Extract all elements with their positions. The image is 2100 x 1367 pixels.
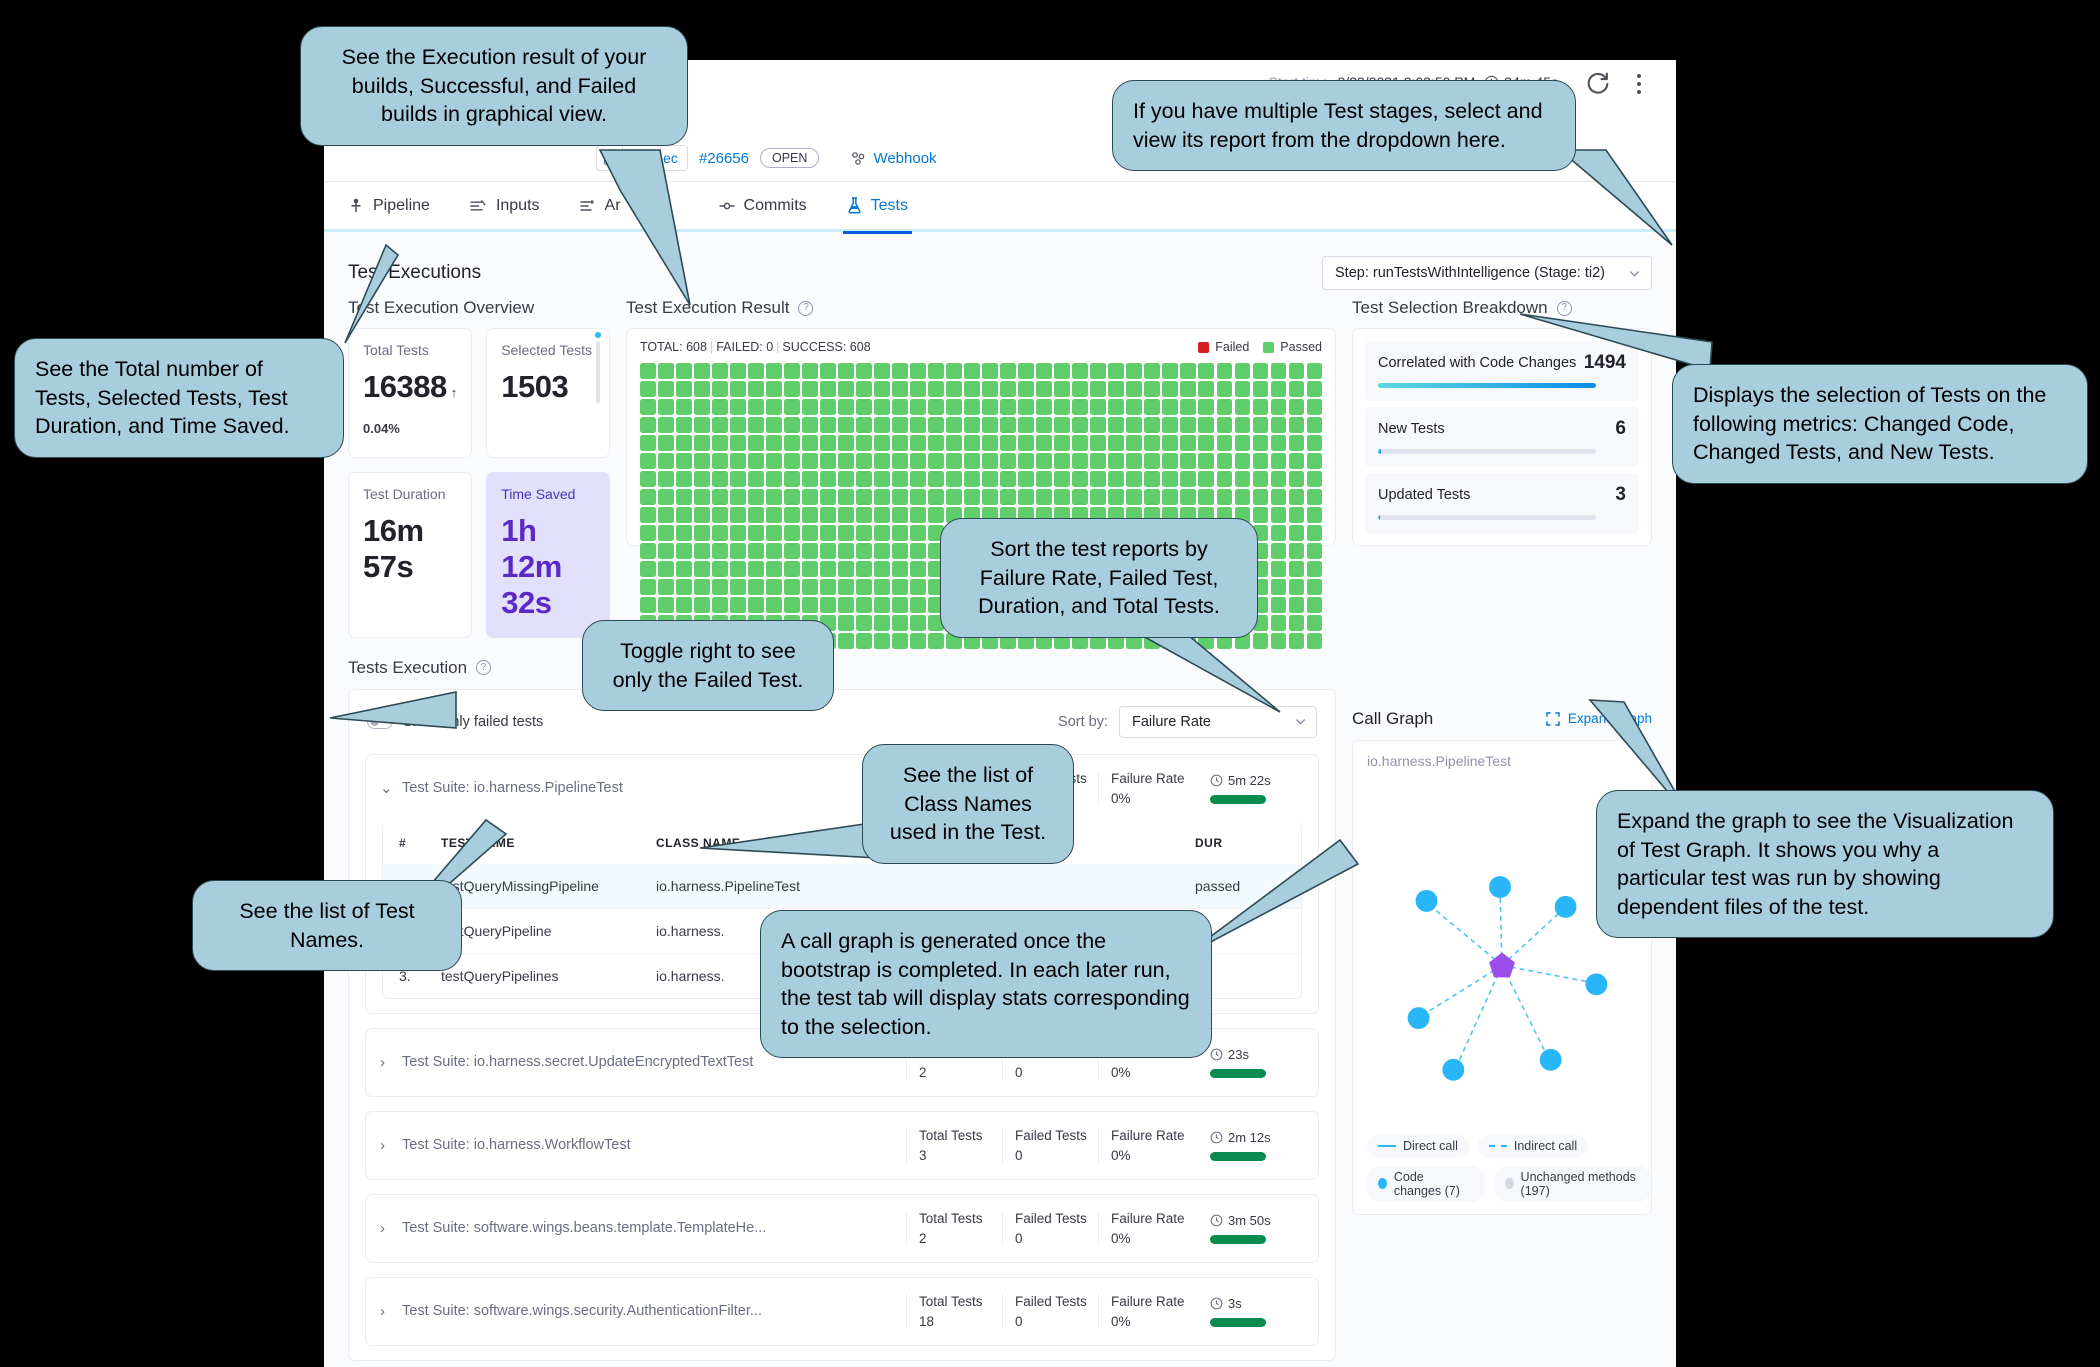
result-tile[interactable] [1271,417,1287,433]
result-tile[interactable] [856,579,872,595]
result-tile[interactable] [1108,453,1124,469]
result-tile[interactable] [964,399,980,415]
result-tile[interactable] [910,417,926,433]
result-tile[interactable] [1126,471,1142,487]
result-tile[interactable] [730,579,746,595]
result-tile[interactable] [910,363,926,379]
result-tile[interactable] [1307,453,1323,469]
result-tile[interactable] [856,507,872,523]
result-tile[interactable] [766,471,782,487]
result-tile[interactable] [928,363,944,379]
result-tile[interactable] [766,579,782,595]
result-tile[interactable] [1307,543,1323,559]
result-tile[interactable] [1289,579,1305,595]
result-tile[interactable] [676,507,692,523]
result-tile[interactable] [712,435,728,451]
result-tile[interactable] [658,363,674,379]
result-tile[interactable] [856,381,872,397]
result-tile[interactable] [694,543,710,559]
result-tile[interactable] [1018,381,1034,397]
result-tile[interactable] [856,471,872,487]
result-tile[interactable] [694,525,710,541]
result-tile[interactable] [982,399,998,415]
result-tile[interactable] [658,507,674,523]
result-tile[interactable] [910,543,926,559]
result-tile[interactable] [676,471,692,487]
result-tile[interactable] [820,381,836,397]
result-tile[interactable] [1126,435,1142,451]
result-tile[interactable] [658,489,674,505]
result-tile[interactable] [1162,417,1178,433]
result-tile[interactable] [730,489,746,505]
result-tile[interactable] [874,399,890,415]
result-tile[interactable] [838,633,854,649]
result-tile[interactable] [892,435,908,451]
chevron-right-icon[interactable]: › [380,1303,402,1320]
result-tile[interactable] [1090,417,1106,433]
result-tile[interactable] [1054,417,1070,433]
result-tile[interactable] [766,435,782,451]
result-tile[interactable] [1126,417,1142,433]
result-tile[interactable] [784,489,800,505]
result-tile[interactable] [640,399,656,415]
result-tile[interactable] [712,453,728,469]
result-tile[interactable] [1108,435,1124,451]
result-tile[interactable] [1307,633,1323,649]
result-tile[interactable] [1144,489,1160,505]
result-tile[interactable] [964,417,980,433]
result-tile[interactable] [820,597,836,613]
result-tile[interactable] [946,435,962,451]
result-tile[interactable] [1072,435,1088,451]
result-tile[interactable] [982,417,998,433]
result-tile[interactable] [856,417,872,433]
result-tile[interactable] [1036,417,1052,433]
result-tile[interactable] [784,471,800,487]
result-tile[interactable] [712,363,728,379]
result-tile[interactable] [802,543,818,559]
result-tile[interactable] [892,453,908,469]
result-tile[interactable] [1271,363,1287,379]
result-tile[interactable] [964,363,980,379]
result-tile[interactable] [1271,579,1287,595]
result-tile[interactable] [1108,417,1124,433]
result-tile[interactable] [802,489,818,505]
result-tile[interactable] [676,381,692,397]
result-tile[interactable] [766,489,782,505]
result-tile[interactable] [640,363,656,379]
result-tile[interactable] [676,435,692,451]
result-tile[interactable] [1307,381,1323,397]
result-tile[interactable] [1090,489,1106,505]
result-tile[interactable] [1090,471,1106,487]
result-tile[interactable] [1090,363,1106,379]
result-tile[interactable] [658,453,674,469]
result-tile[interactable] [1162,399,1178,415]
result-tile[interactable] [784,507,800,523]
result-tile[interactable] [892,381,908,397]
result-tile[interactable] [658,561,674,577]
result-tile[interactable] [712,579,728,595]
result-tile[interactable] [730,453,746,469]
result-tile[interactable] [1162,453,1178,469]
result-tile[interactable] [640,543,656,559]
result-tile[interactable] [748,417,764,433]
result-tile[interactable] [874,435,890,451]
result-tile[interactable] [748,543,764,559]
result-tile[interactable] [730,363,746,379]
result-tile[interactable] [694,381,710,397]
result-tile[interactable] [1271,453,1287,469]
result-tile[interactable] [1126,399,1142,415]
result-tile[interactable] [1054,381,1070,397]
result-tile[interactable] [910,633,926,649]
result-tile[interactable] [640,525,656,541]
result-tile[interactable] [730,561,746,577]
result-tile[interactable] [1162,471,1178,487]
tab-inputs[interactable]: Inputs [470,181,540,231]
result-tile[interactable] [712,489,728,505]
result-tile[interactable] [748,453,764,469]
result-tile[interactable] [910,597,926,613]
result-tile[interactable] [910,525,926,541]
result-tile[interactable] [1271,543,1287,559]
result-tile[interactable] [1036,363,1052,379]
result-tile[interactable] [820,399,836,415]
result-tile[interactable] [1289,507,1305,523]
result-tile[interactable] [964,381,980,397]
result-tile[interactable] [1036,471,1052,487]
result-tile[interactable] [1018,471,1034,487]
result-tile[interactable] [1144,417,1160,433]
result-tile[interactable] [874,597,890,613]
result-tile[interactable] [856,543,872,559]
result-tile[interactable] [892,507,908,523]
result-tile[interactable] [1253,489,1269,505]
result-tile[interactable] [874,525,890,541]
result-tile[interactable] [928,633,944,649]
result-tile[interactable] [676,453,692,469]
result-tile[interactable] [1289,399,1305,415]
result-tile[interactable] [766,399,782,415]
result-tile[interactable] [676,363,692,379]
result-tile[interactable] [820,489,836,505]
result-tile[interactable] [1000,363,1016,379]
result-tile[interactable] [658,381,674,397]
result-tile[interactable] [1072,489,1088,505]
result-tile[interactable] [640,579,656,595]
result-tile[interactable] [982,363,998,379]
result-tile[interactable] [1108,471,1124,487]
result-tile[interactable] [910,615,926,631]
result-tile[interactable] [1126,363,1142,379]
result-tile[interactable] [1198,471,1214,487]
chevron-right-icon[interactable]: › [380,1220,402,1237]
result-tile[interactable] [1000,417,1016,433]
result-tile[interactable] [1289,597,1305,613]
result-tile[interactable] [1162,435,1178,451]
result-tile[interactable] [838,525,854,541]
result-tile[interactable] [766,363,782,379]
result-tile[interactable] [1054,363,1070,379]
result-tile[interactable] [838,489,854,505]
result-tile[interactable] [1217,399,1233,415]
result-tile[interactable] [1090,435,1106,451]
result-tile[interactable] [730,507,746,523]
result-tile[interactable] [1307,525,1323,541]
result-tile[interactable] [1198,435,1214,451]
result-tile[interactable] [1144,399,1160,415]
chevron-down-icon[interactable]: ⌄ [380,779,402,797]
result-tile[interactable] [928,399,944,415]
result-tile[interactable] [820,453,836,469]
result-tile[interactable] [946,471,962,487]
result-tile[interactable] [1235,417,1251,433]
result-tile[interactable] [1072,399,1088,415]
result-tile[interactable] [1036,489,1052,505]
result-tile[interactable] [784,417,800,433]
result-tile[interactable] [766,417,782,433]
result-tile[interactable] [1289,453,1305,469]
result-tile[interactable] [694,435,710,451]
result-tile[interactable] [1180,381,1196,397]
result-tile[interactable] [640,435,656,451]
result-tile[interactable] [946,489,962,505]
result-tile[interactable] [1307,615,1323,631]
result-tile[interactable] [694,471,710,487]
result-tile[interactable] [694,453,710,469]
result-tile[interactable] [982,435,998,451]
result-tile[interactable] [658,597,674,613]
result-tile[interactable] [874,471,890,487]
result-tile[interactable] [640,489,656,505]
result-tile[interactable] [1271,399,1287,415]
result-tile[interactable] [1289,543,1305,559]
result-tile[interactable] [658,471,674,487]
result-tile[interactable] [856,597,872,613]
result-tile[interactable] [1198,489,1214,505]
result-tile[interactable] [1253,471,1269,487]
result-tile[interactable] [658,417,674,433]
result-tile[interactable] [982,453,998,469]
result-tile[interactable] [1018,417,1034,433]
result-tile[interactable] [874,561,890,577]
result-tile[interactable] [694,363,710,379]
result-tile[interactable] [946,381,962,397]
result-tile[interactable] [730,417,746,433]
result-tile[interactable] [766,453,782,469]
result-tile[interactable] [1018,363,1034,379]
result-tile[interactable] [1217,471,1233,487]
result-tile[interactable] [748,399,764,415]
result-tile[interactable] [640,597,656,613]
result-tile[interactable] [820,525,836,541]
result-tile[interactable] [820,363,836,379]
result-tile[interactable] [892,471,908,487]
suite-row[interactable]: ⌄Test Suite: io.harness.PipelineTestTota… [366,755,1318,822]
test-suite[interactable]: ›Test Suite: io.harness.WorkflowTestTota… [365,1111,1319,1180]
suite-row[interactable]: ›Test Suite: io.harness.WorkflowTestTota… [366,1112,1318,1179]
result-tile[interactable] [784,543,800,559]
result-tile[interactable] [820,507,836,523]
result-tile[interactable] [856,489,872,505]
result-tile[interactable] [1307,561,1323,577]
result-tile[interactable] [712,561,728,577]
result-tile[interactable] [856,399,872,415]
result-tile[interactable] [1235,471,1251,487]
result-tile[interactable] [1126,381,1142,397]
result-tile[interactable] [1126,489,1142,505]
result-tile[interactable] [712,417,728,433]
result-tile[interactable] [1144,471,1160,487]
result-tile[interactable] [712,381,728,397]
result-tile[interactable] [784,399,800,415]
result-tile[interactable] [1072,417,1088,433]
result-tile[interactable] [658,399,674,415]
result-tile[interactable] [1271,435,1287,451]
result-tile[interactable] [838,507,854,523]
result-tile[interactable] [856,633,872,649]
result-tile[interactable] [1307,597,1323,613]
result-tile[interactable] [1090,381,1106,397]
result-tile[interactable] [982,471,998,487]
result-tile[interactable] [1162,381,1178,397]
result-tile[interactable] [1271,615,1287,631]
result-tile[interactable] [838,579,854,595]
result-tile[interactable] [1108,399,1124,415]
result-tile[interactable] [1126,453,1142,469]
result-tile[interactable] [1036,399,1052,415]
result-tile[interactable] [676,561,692,577]
result-tile[interactable] [838,363,854,379]
result-tile[interactable] [1018,399,1034,415]
result-tile[interactable] [946,417,962,433]
result-tile[interactable] [802,435,818,451]
result-tile[interactable] [1307,417,1323,433]
result-tile[interactable] [640,381,656,397]
result-tile[interactable] [874,507,890,523]
result-tile[interactable] [1198,381,1214,397]
result-tile[interactable] [892,363,908,379]
result-tile[interactable] [892,579,908,595]
result-tile[interactable] [712,597,728,613]
result-tile[interactable] [820,435,836,451]
result-tile[interactable] [802,417,818,433]
result-tile[interactable] [1217,453,1233,469]
result-tile[interactable] [676,417,692,433]
result-tile[interactable] [1090,453,1106,469]
result-tile[interactable] [1000,399,1016,415]
result-tile[interactable] [874,579,890,595]
result-tile[interactable] [694,561,710,577]
result-tile[interactable] [1018,435,1034,451]
result-tile[interactable] [1217,381,1233,397]
result-tile[interactable] [1198,399,1214,415]
result-tile[interactable] [658,543,674,559]
result-tile[interactable] [838,597,854,613]
result-tile[interactable] [1289,435,1305,451]
result-tile[interactable] [1289,417,1305,433]
result-tile[interactable] [892,489,908,505]
result-tile[interactable] [676,579,692,595]
result-tile[interactable] [640,453,656,469]
result-tile[interactable] [1217,489,1233,505]
result-tile[interactable] [1271,597,1287,613]
result-tile[interactable] [694,417,710,433]
more-options-icon[interactable] [1628,70,1650,98]
result-tile[interactable] [784,453,800,469]
result-tile[interactable] [1235,489,1251,505]
result-tile[interactable] [946,363,962,379]
result-tile[interactable] [892,543,908,559]
result-tile[interactable] [1307,579,1323,595]
result-tile[interactable] [964,453,980,469]
result-tile[interactable] [928,453,944,469]
result-tile[interactable] [856,363,872,379]
result-tile[interactable] [838,615,854,631]
result-tile[interactable] [802,507,818,523]
result-tile[interactable] [874,489,890,505]
result-tile[interactable] [910,579,926,595]
result-tile[interactable] [910,471,926,487]
result-tile[interactable] [1217,435,1233,451]
result-tile[interactable] [892,417,908,433]
result-tile[interactable] [820,561,836,577]
result-tile[interactable] [856,525,872,541]
result-tile[interactable] [1162,363,1178,379]
result-tile[interactable] [964,489,980,505]
result-tile[interactable] [1289,363,1305,379]
result-tile[interactable] [712,507,728,523]
result-tile[interactable] [820,417,836,433]
result-tile[interactable] [1198,363,1214,379]
tab-pipeline[interactable]: Pipeline [348,181,430,231]
result-tile[interactable] [874,417,890,433]
test-suite[interactable]: ›Test Suite: software.wings.security.Aut… [365,1277,1319,1346]
result-tile[interactable] [820,579,836,595]
result-tile[interactable] [748,597,764,613]
chevron-right-icon[interactable]: › [380,1054,402,1071]
result-tile[interactable] [1072,363,1088,379]
result-tile[interactable] [946,453,962,469]
result-tile[interactable] [838,471,854,487]
result-tile[interactable] [1271,525,1287,541]
result-tile[interactable] [1000,471,1016,487]
result-tile[interactable] [784,561,800,577]
result-tile[interactable] [694,399,710,415]
result-tile[interactable] [712,543,728,559]
result-tile[interactable] [1235,435,1251,451]
result-tile[interactable] [1307,507,1323,523]
result-tile[interactable] [748,435,764,451]
result-tile[interactable] [1253,453,1269,469]
result-tile[interactable] [856,453,872,469]
result-tile[interactable] [766,507,782,523]
result-tile[interactable] [1271,507,1287,523]
result-tile[interactable] [748,381,764,397]
result-tile[interactable] [1018,453,1034,469]
result-tile[interactable] [820,543,836,559]
result-tile[interactable] [802,597,818,613]
result-tile[interactable] [838,453,854,469]
test-suite[interactable]: ›Test Suite: software.wings.beans.templa… [365,1194,1319,1263]
result-tile[interactable] [1253,417,1269,433]
step-select[interactable]: Step: runTestsWithIntelligence (Stage: t… [1322,256,1652,290]
result-tile[interactable] [928,507,944,523]
result-tile[interactable] [730,543,746,559]
result-tile[interactable] [838,561,854,577]
result-tile[interactable] [856,435,872,451]
